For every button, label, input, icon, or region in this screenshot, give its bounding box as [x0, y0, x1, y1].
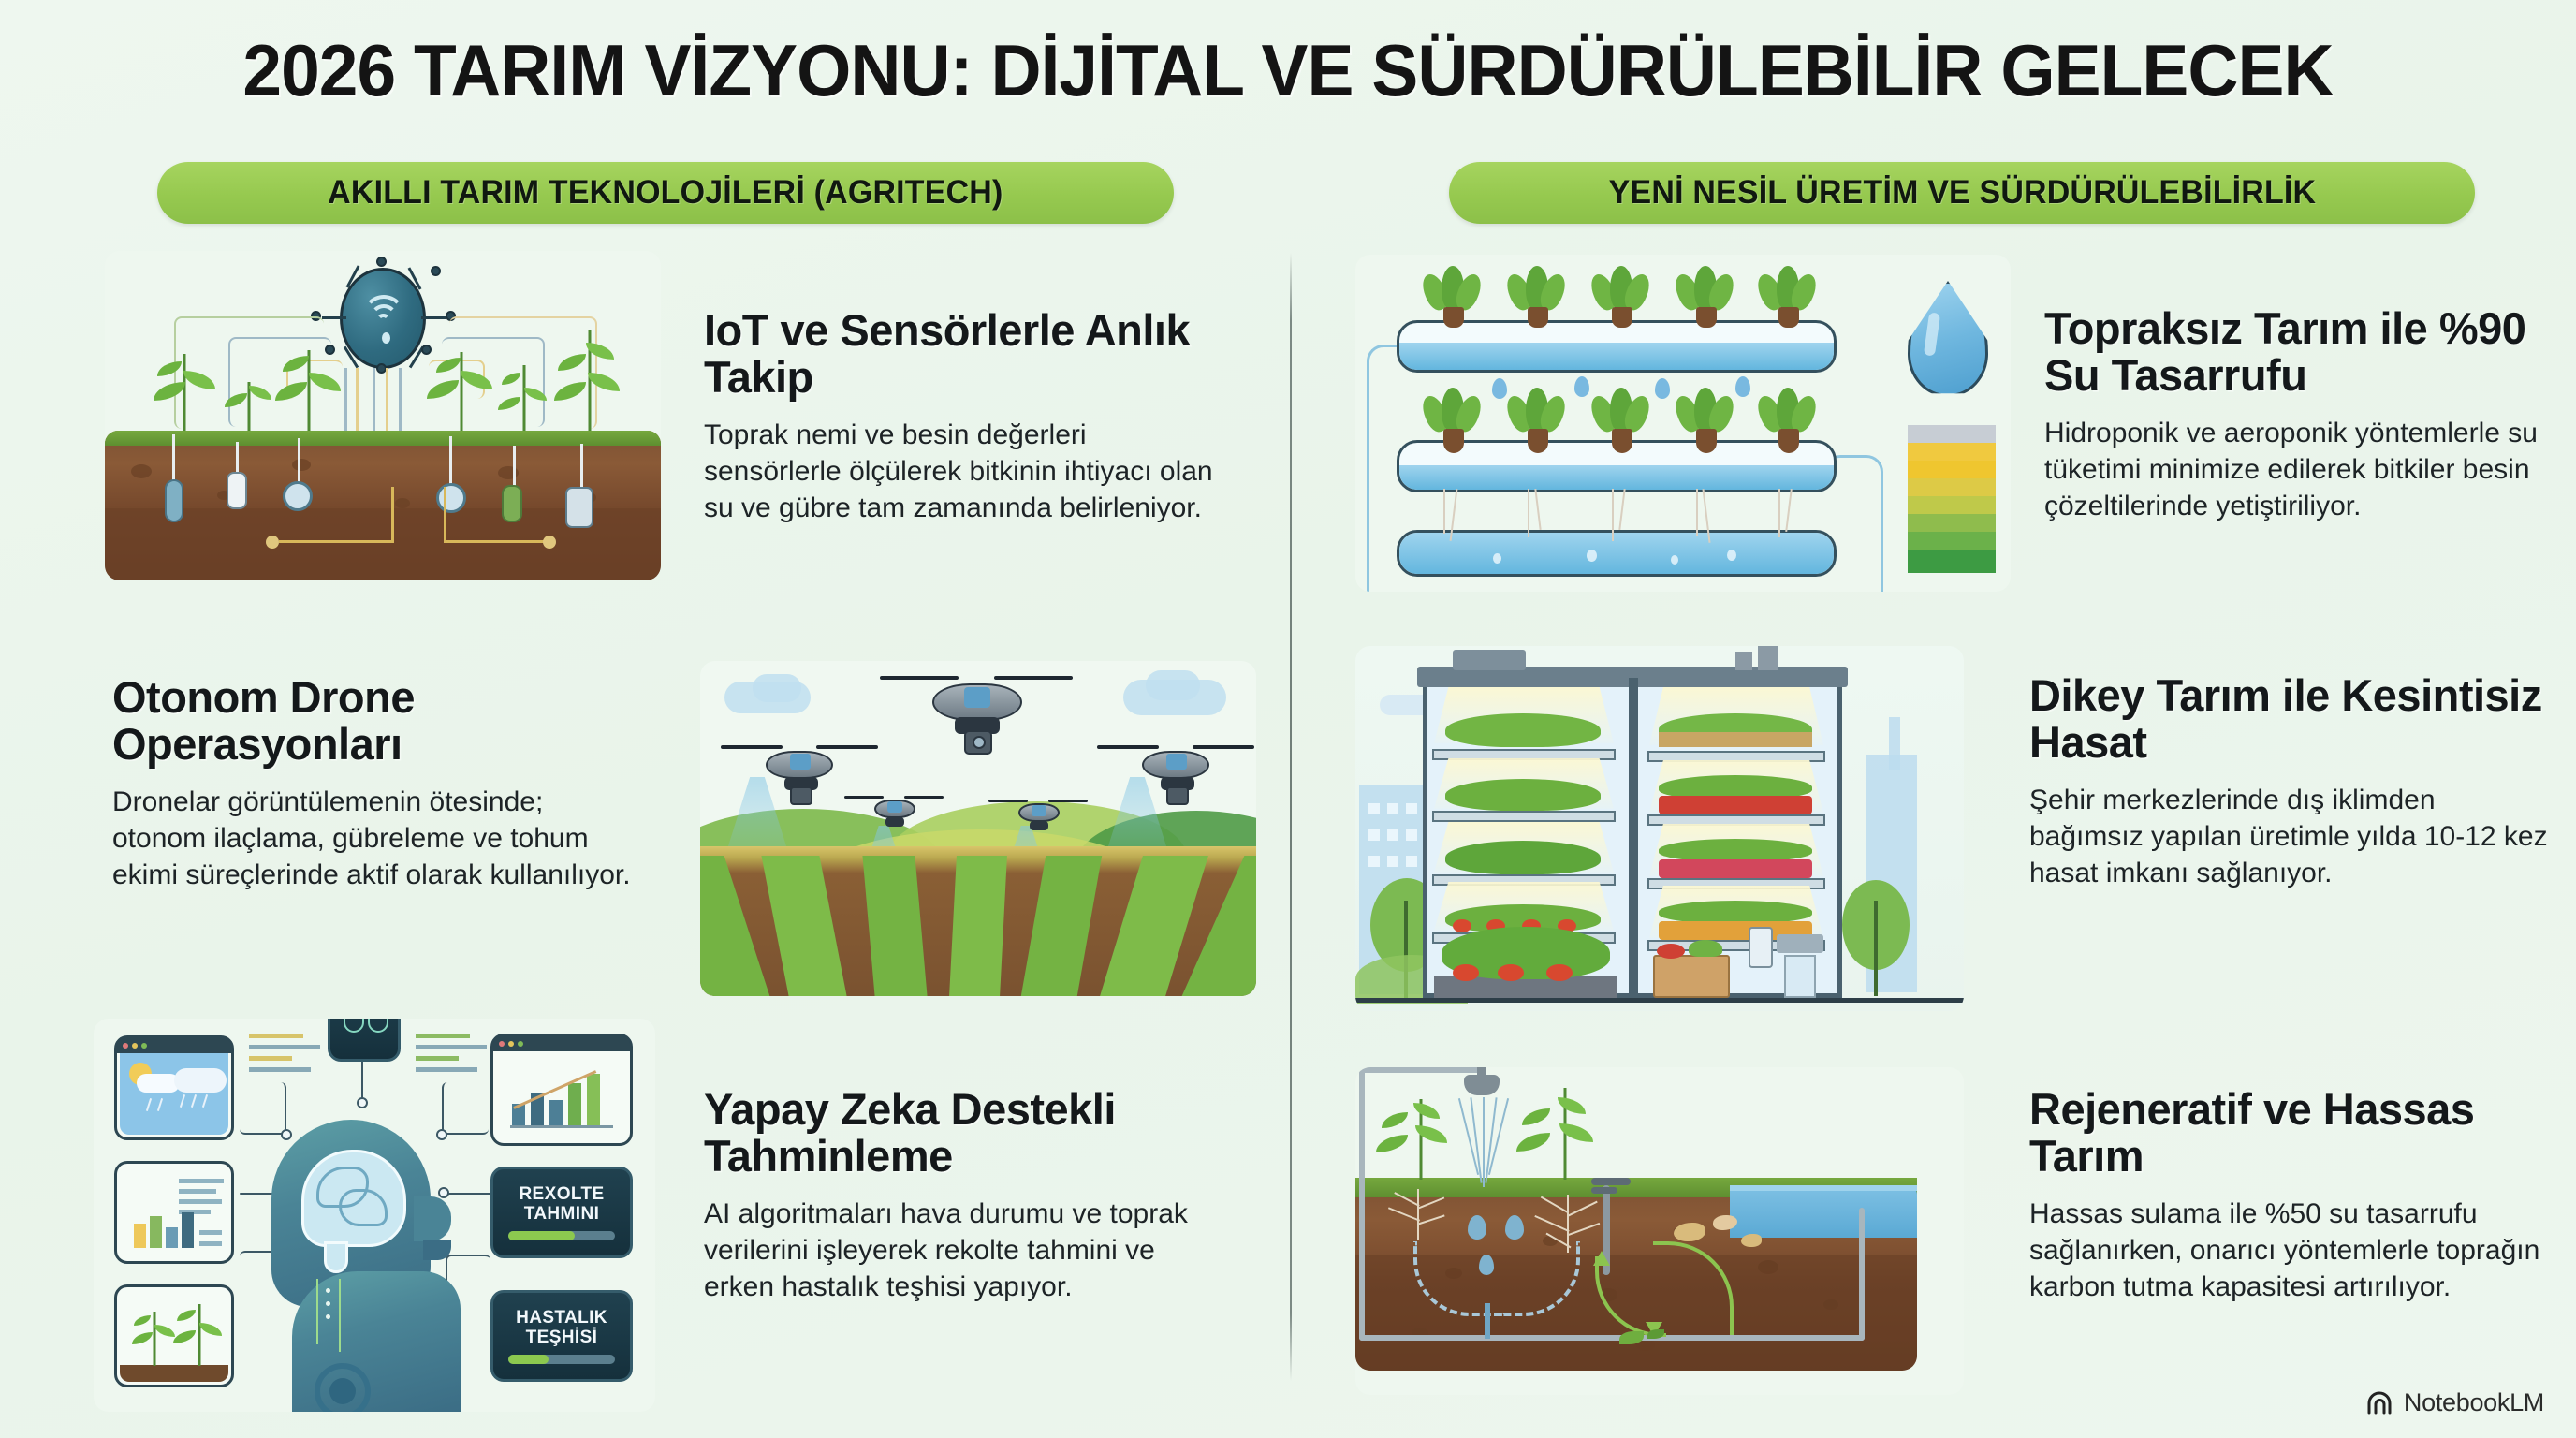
section-header-sustainability: YENİ NESİL ÜRETİM VE SÜRDÜRÜLEBİLİRLİK — [1449, 162, 2475, 224]
card-drone-body: Dronelar görüntülemenin ötesinde; otonom… — [112, 784, 637, 893]
card-vertical-body: Şehir merkezlerinde dış iklimden bağımsı… — [2029, 782, 2554, 891]
crop-panel-icon — [114, 1284, 234, 1387]
card-ai-title: Yapay Zeka Destekli Tahminleme — [704, 1086, 1247, 1181]
illustration-drone-swarm — [700, 661, 1256, 996]
card-iot-title: IoT ve Sensörlerle Anlık Takip — [704, 307, 1247, 402]
illustration-ai-forecasting: REXOLTE TAHMINI HASTALIK TEŞHİSİ — [94, 1019, 655, 1412]
card-regenerative-body: Hassas sulama ile %50 su tasarrufu sağla… — [2029, 1196, 2554, 1305]
analytics-panel-icon — [114, 1161, 234, 1264]
card-vertical-title: Dikey Tarım ile Kesintisiz Hasat — [2029, 672, 2554, 767]
section-header-agritech: AKILLI TARIM TEKNOLOJİLERİ (AGRITECH) — [157, 162, 1174, 224]
card-drone-text: Otonom Drone Operasyonları Dronelar görü… — [112, 674, 637, 893]
card-regenerative-title: Rejeneratif ve Hassas Tarım — [2029, 1086, 2554, 1181]
illustration-vertical-farm — [1355, 646, 1964, 1011]
card-drone-title: Otonom Drone Operasyonları — [112, 674, 637, 769]
large-water-drop-icon — [1908, 281, 1988, 397]
watermark-label: NotebookLM — [2404, 1388, 2544, 1417]
illustration-iot-sensors — [105, 251, 661, 580]
badge-disease-diagnosis: HASTALIK TEŞHİSİ — [490, 1290, 633, 1382]
water-drop-icon — [1492, 378, 1507, 399]
badge-yield-line1: REXOLTE — [493, 1184, 630, 1204]
notebooklm-logo-icon — [2366, 1391, 2394, 1416]
card-ai-body: AI algoritmaları hava durumu ve toprak v… — [704, 1196, 1228, 1305]
neural-chip-icon — [328, 1019, 401, 1062]
column-divider — [1290, 253, 1292, 1381]
card-regenerative-text: Rejeneratif ve Hassas Tarım Hassas sulam… — [2029, 1086, 2554, 1305]
infographic-page: 2026 TARIM VİZYONU: DİJİTAL VE SÜRDÜRÜLE… — [0, 0, 2576, 1438]
page-title: 2026 TARIM VİZYONU: DİJİTAL VE SÜRDÜRÜLE… — [51, 28, 2525, 113]
wifi-hub-icon — [340, 268, 426, 369]
illustration-hydroponics — [1355, 255, 2011, 592]
card-ai-text: Yapay Zeka Destekli Tahminleme AI algori… — [704, 1086, 1247, 1305]
drone-icon — [874, 668, 1080, 758]
card-hydroponics-body: Hidroponik ve aeroponik yöntemlerle su t… — [2044, 415, 2569, 524]
badge-disease-line1: HASTALIK — [493, 1308, 630, 1328]
watermark: NotebookLM — [2366, 1388, 2544, 1417]
card-vertical-text: Dikey Tarım ile Kesintisiz Hasat Şehir m… — [2029, 672, 2554, 891]
card-hydroponics-title: Topraksız Tarım ile %90 Su Tasarrufu — [2044, 305, 2569, 400]
hydroponic-reservoir — [1397, 530, 1837, 577]
section-header-agritech-label: AKILLI TARIM TEKNOLOJİLERİ (AGRITECH) — [328, 174, 1003, 212]
badge-yield-forecast: REXOLTE TAHMINI — [490, 1167, 633, 1258]
card-iot-body: Toprak nemi ve besin değerleri sensörler… — [704, 417, 1228, 526]
card-hydroponics-text: Topraksız Tarım ile %90 Su Tasarrufu Hid… — [2044, 305, 2569, 524]
nutrient-color-scale — [1908, 425, 1996, 573]
forecast-chart-icon — [490, 1034, 633, 1146]
card-iot-text: IoT ve Sensörlerle Anlık Takip Toprak ne… — [704, 307, 1247, 526]
illustration-regenerative-farming — [1355, 1067, 1964, 1395]
weather-panel-icon — [114, 1035, 234, 1140]
badge-yield-line2: TAHMINI — [493, 1204, 630, 1224]
lettuce-plant — [1425, 266, 1481, 328]
hydroponic-tube — [1397, 320, 1837, 373]
badge-disease-line2: TEŞHİSİ — [493, 1328, 630, 1347]
soil-probe-sensor — [165, 479, 183, 522]
water-table — [1730, 1185, 1917, 1238]
plant-icon — [1387, 1099, 1455, 1180]
section-header-sustainability-label: YENİ NESİL ÜRETİM VE SÜRDÜRÜLEBİLİRLİK — [1608, 174, 2316, 212]
